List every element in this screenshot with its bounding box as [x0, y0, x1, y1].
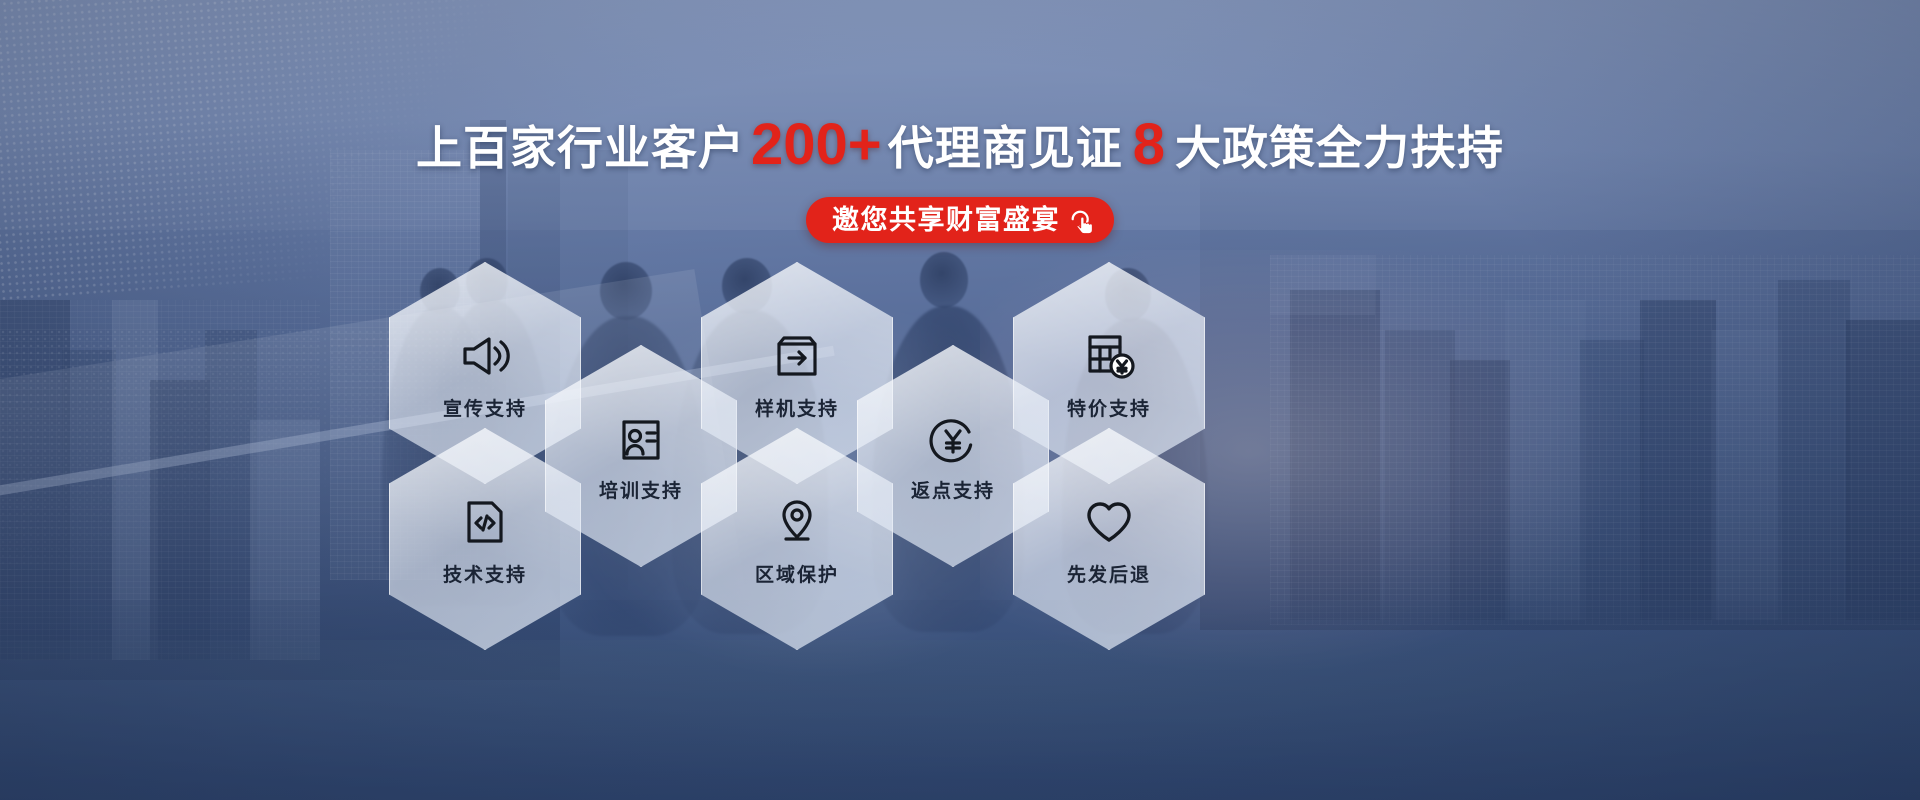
- hex-label: 先发后退: [1067, 566, 1151, 585]
- hexagon-grid: 宣传支持 技术支持: [0, 0, 1920, 800]
- calculator-yen-icon: [1081, 328, 1137, 384]
- yen-circle-icon: [925, 412, 981, 468]
- promo-banner: 上百家行业客户200+代理商见证8大政策全力扶持 邀您共享财富盛宴 宣传支持: [0, 0, 1920, 800]
- hex-label: 宣传支持: [443, 400, 527, 419]
- hex-label: 返点支持: [911, 482, 995, 501]
- box-arrow-in-icon: [769, 328, 825, 384]
- megaphone-icon: [457, 328, 513, 384]
- hex-label: 区域保护: [755, 566, 839, 585]
- id-card-person-icon: [613, 412, 669, 468]
- hex-label: 特价支持: [1067, 400, 1151, 419]
- hex-label: 培训支持: [599, 482, 683, 501]
- hex-label: 技术支持: [443, 566, 527, 585]
- heart-icon: [1081, 494, 1137, 550]
- location-pin-icon: [769, 494, 825, 550]
- code-brackets-icon: [457, 494, 513, 550]
- hex-label: 样机支持: [755, 400, 839, 419]
